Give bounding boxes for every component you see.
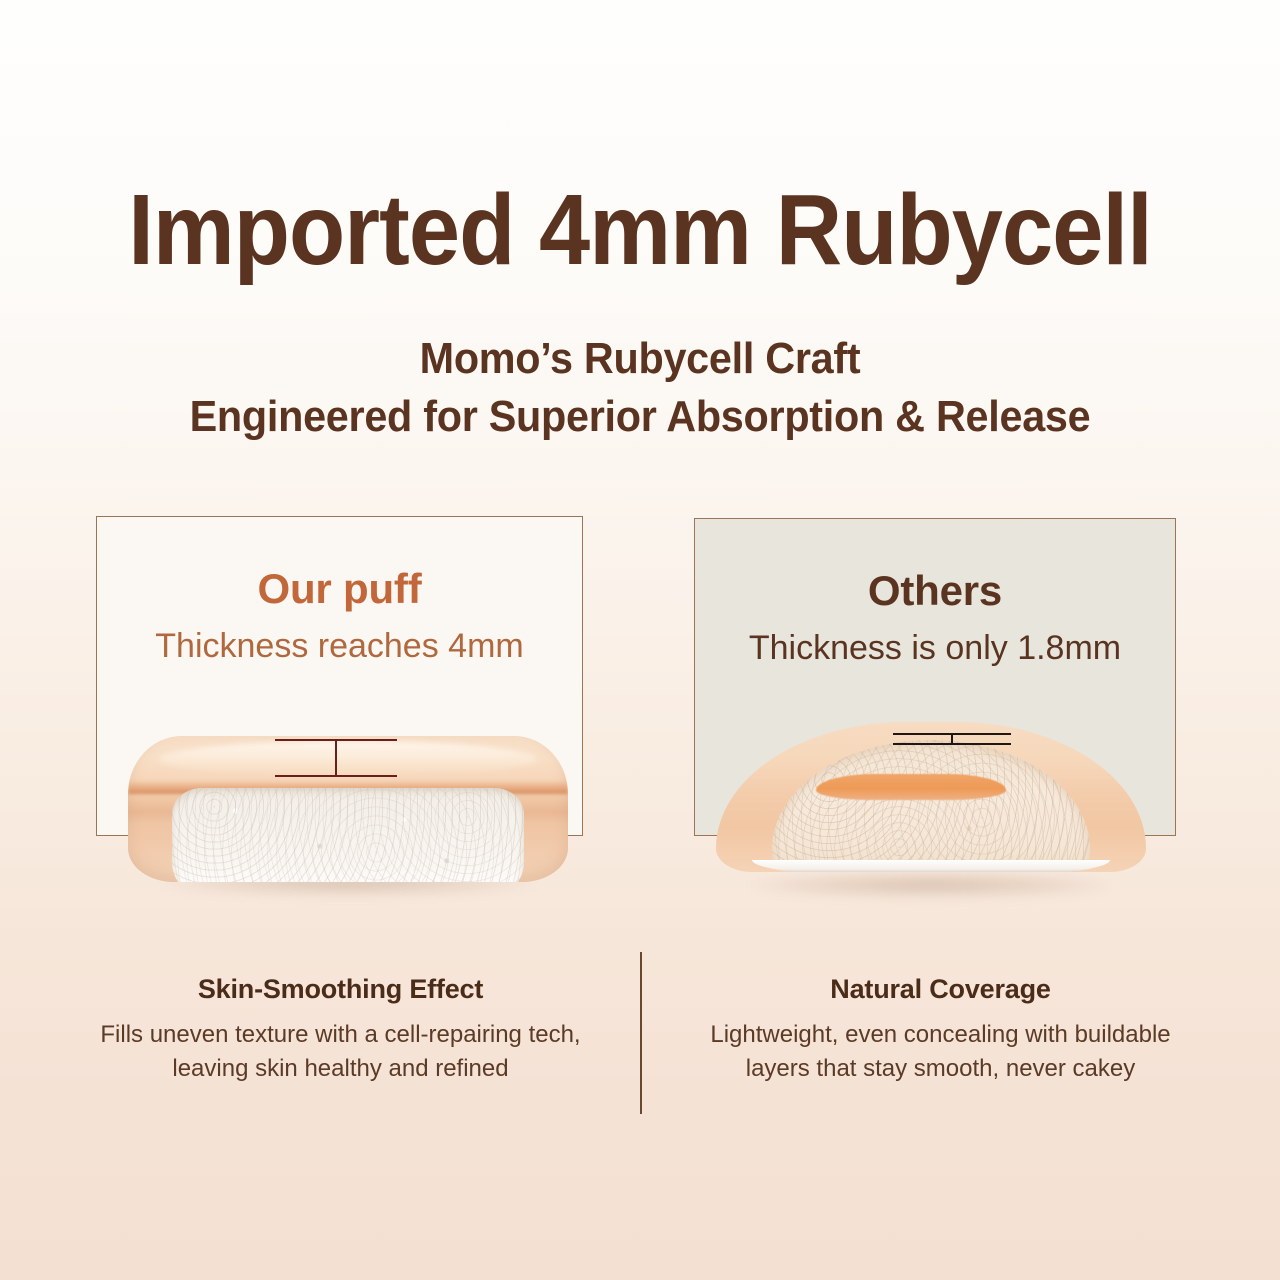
- our-puff-thickness-label: Thickness reaches 4mm: [97, 625, 582, 667]
- page-title: Imported 4mm Rubycell: [51, 176, 1229, 284]
- puff-base-edge: [752, 860, 1110, 872]
- puff-crescent-sliver: [816, 774, 1006, 800]
- feature-skin-smoothing: Skin-Smoothing Effect Fills uneven textu…: [68, 972, 613, 1086]
- feature-body-line-1: Lightweight, even concealing with builda…: [668, 1018, 1213, 1052]
- feature-body-line-2: layers that stay smooth, never cakey: [668, 1052, 1213, 1086]
- our-puff-title: Our puff: [97, 565, 582, 613]
- feature-natural-coverage: Natural Coverage Lightweight, even conce…: [668, 972, 1213, 1086]
- feature-title: Natural Coverage: [668, 972, 1213, 1006]
- thickness-measure-4mm: [275, 739, 397, 777]
- infographic-page: Imported 4mm Rubycell Momo’s Rubycell Cr…: [0, 0, 1280, 1280]
- feature-body-line-1: Fills uneven texture with a cell-repairi…: [68, 1018, 613, 1052]
- puff-drop-shadow: [750, 872, 1111, 898]
- feature-column-divider: [640, 952, 642, 1114]
- subtitle-line-2: Engineered for Superior Absorption & Rel…: [38, 388, 1241, 446]
- feature-body: Fills uneven texture with a cell-repairi…: [68, 1018, 613, 1086]
- subtitle-line-1: Momo’s Rubycell Craft: [38, 330, 1241, 388]
- subtitle-block: Momo’s Rubycell Craft Engineered for Sup…: [0, 330, 1280, 446]
- measure-bottom-line: [275, 775, 397, 777]
- feature-body: Lightweight, even concealing with builda…: [668, 1018, 1213, 1086]
- measure-stem: [335, 739, 337, 777]
- others-title: Others: [695, 567, 1175, 615]
- feature-body-line-2: leaving skin healthy and refined: [68, 1052, 613, 1086]
- rubycell-sponge-core: [172, 788, 524, 882]
- others-puff-image: [716, 700, 1146, 900]
- others-thickness-label: Thickness is only 1.8mm: [695, 627, 1175, 669]
- measure-bottom-line: [893, 743, 1011, 745]
- feature-title: Skin-Smoothing Effect: [68, 972, 613, 1006]
- thin-sponge-core: [772, 740, 1090, 872]
- thickness-measure-1-8mm: [893, 733, 1011, 745]
